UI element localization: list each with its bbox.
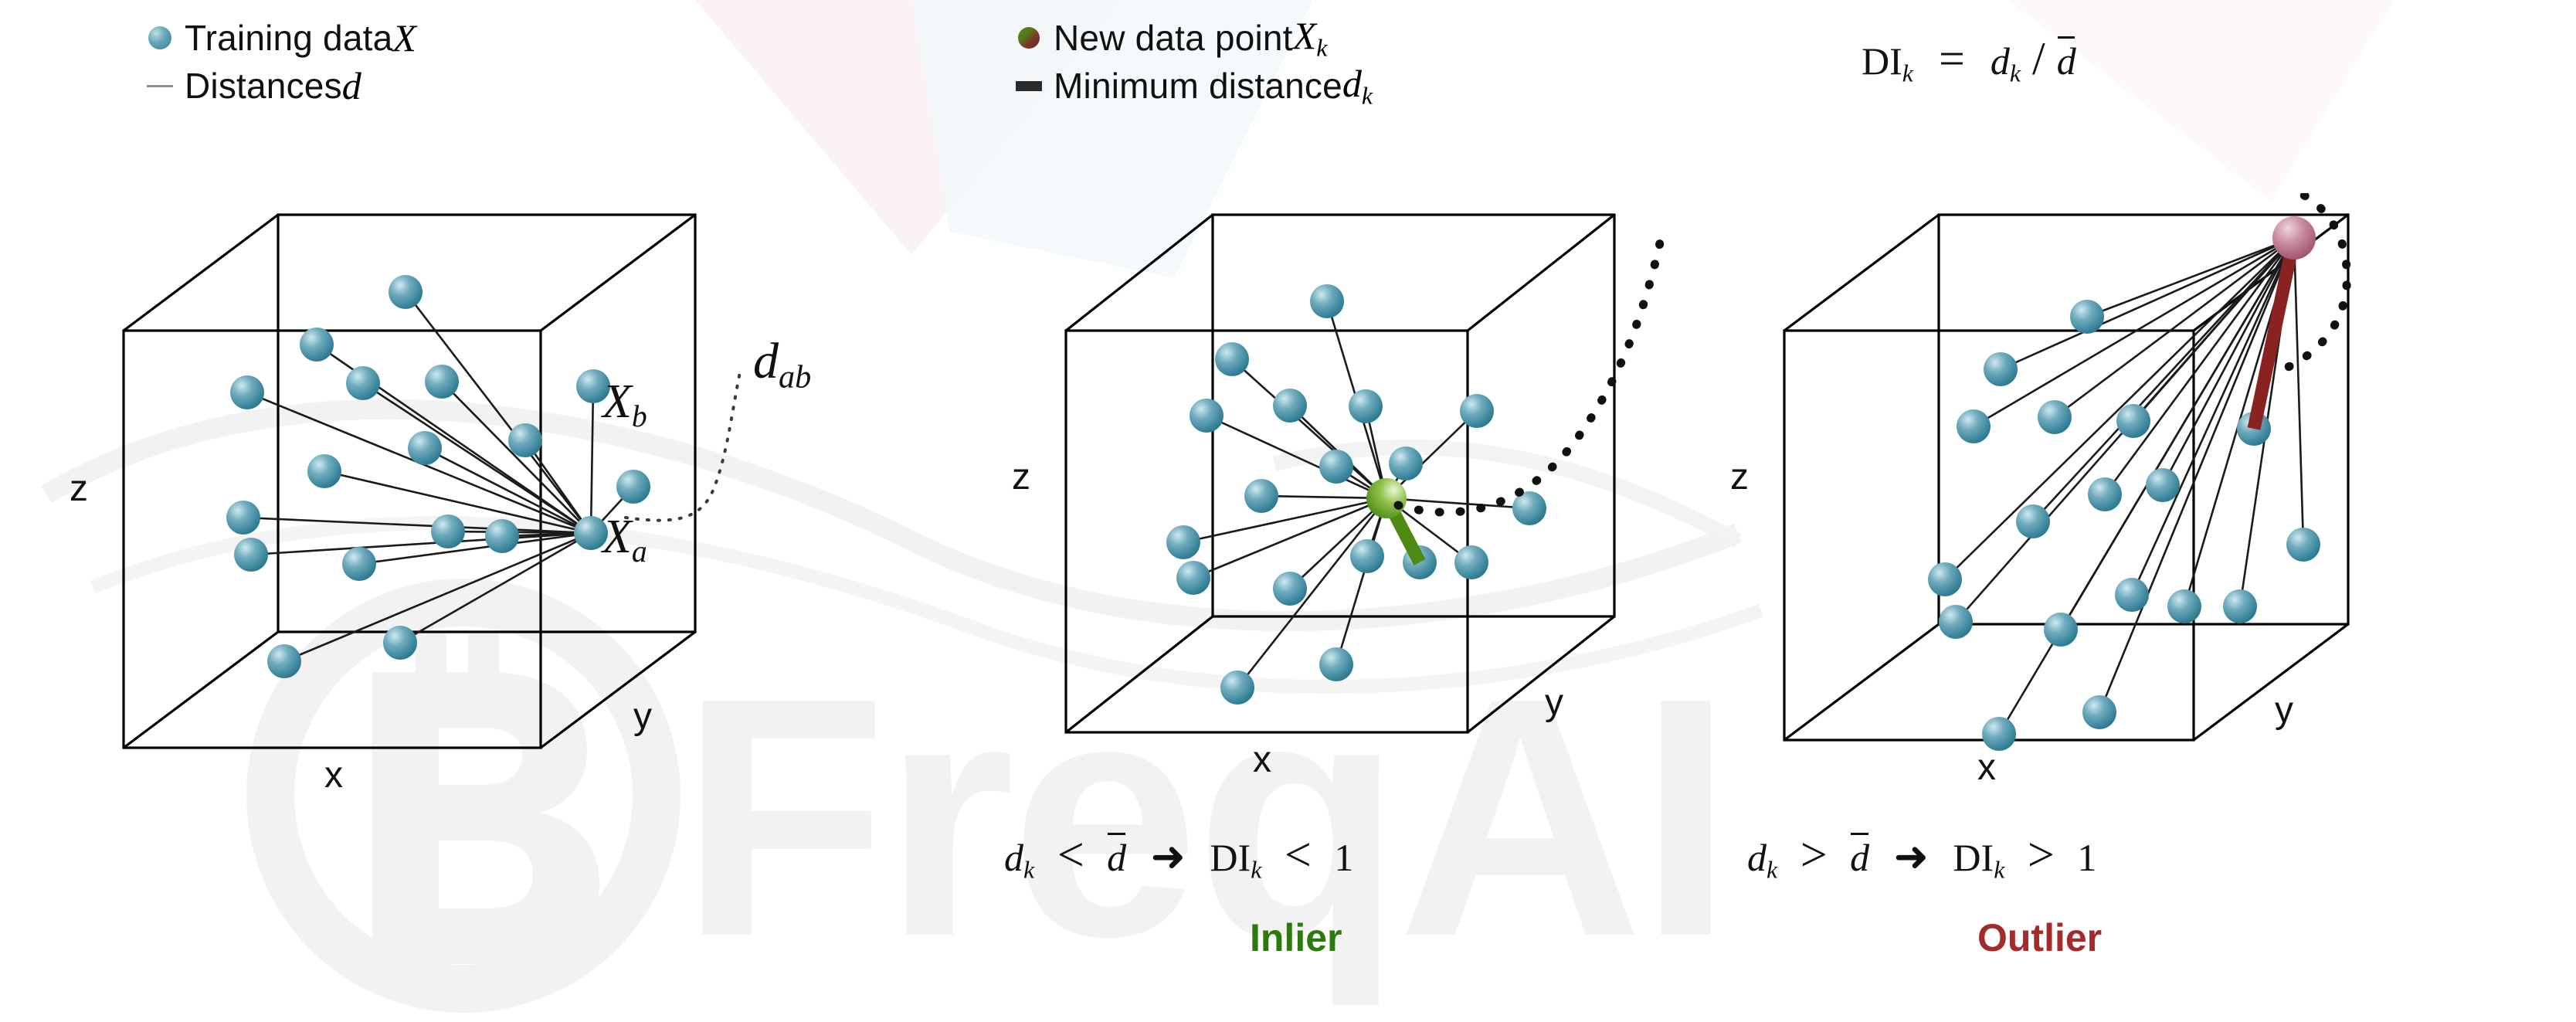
legend-right: New data point Xk Minimum distance dk (1004, 14, 1373, 110)
new-data-point-inlier (1366, 478, 1407, 518)
caption-outlier-dbar: d (1850, 835, 1869, 880)
callout-label-dab: dab (753, 332, 811, 396)
axis-label-x-inlier: x (1253, 738, 1271, 781)
panel-outlier: z x y (1753, 193, 2433, 834)
thin-dash-icon (135, 85, 185, 87)
legend-item-minimum-distance: Minimum distance dk (1004, 62, 1373, 110)
legend-symbol-distances: d (342, 63, 361, 108)
axis-label-z-training: z (70, 467, 88, 510)
legend-label-distances: Distances (185, 65, 342, 107)
caption-equation-outlier: dk > d ➜ DIk > 1 (1747, 828, 2096, 884)
caption-inlier-dbar: d (1107, 835, 1126, 880)
caption-outlier-op2: > (2028, 829, 2055, 881)
caption-equation-inlier: dk < d ➜ DIk < 1 (1004, 828, 1353, 884)
caption-inlier-arrow: ➜ (1151, 832, 1186, 881)
legend-symbol-new-data-point: Xk (1293, 13, 1328, 63)
point-label-Xa: Xa (602, 510, 647, 569)
caption-inlier-di: DIk (1210, 836, 1261, 879)
axis-label-z-outlier: z (1730, 456, 1749, 498)
new-data-point-icon (1004, 27, 1054, 49)
legend-item-distances: Distances d (135, 62, 416, 110)
axis-label-y-outlier: y (2275, 689, 2293, 732)
caption-outlier-arrow: ➜ (1894, 832, 1929, 881)
caption-inlier-value: 1 (1334, 836, 1353, 879)
di-formula-denominator: d (2057, 39, 2076, 83)
point-label-Xb: Xb (602, 375, 647, 434)
caption-word-outlier: Outlier (1977, 915, 2102, 960)
legend-symbol-minimum-distance: dk (1342, 61, 1373, 110)
axis-label-x-outlier: x (1977, 746, 1996, 789)
axis-label-y-training: y (633, 695, 652, 738)
caption-outlier-value: 1 (2077, 836, 2096, 879)
axis-label-z-inlier: z (1012, 456, 1030, 498)
legend-item-training-data: Training data X (135, 14, 416, 62)
legend-label-minimum-distance: Minimum distance (1054, 65, 1342, 107)
cube-training (93, 193, 911, 834)
panel-inlier: z x y (1035, 193, 1699, 834)
legend-label-new-data-point: New data point (1054, 17, 1293, 59)
panel-training: z x y Xb Xa dab (93, 193, 911, 834)
axis-label-x-training: x (324, 754, 343, 796)
di-formula-slash: / (2032, 33, 2045, 84)
caption-inlier-op2: < (1285, 829, 1312, 881)
di-formula-numerator: dk (1991, 39, 2021, 83)
cube-inlier (1035, 193, 1699, 834)
distance-lines-outlier (1945, 238, 2303, 734)
legend-item-new-data-point: New data point Xk (1004, 14, 1373, 62)
new-data-point-outlier (2272, 216, 2316, 260)
di-formula-lhs: DIk (1862, 39, 1913, 83)
legend-left: Training data X Distances d (135, 14, 416, 110)
di-formula: DIk = dk / d (1862, 32, 2076, 88)
di-formula-equals: = (1939, 33, 1965, 84)
point-Xb (616, 470, 650, 504)
legend-symbol-training-data: X (392, 15, 416, 60)
caption-inlier-op1: < (1057, 829, 1084, 881)
axis-label-y-inlier: y (1545, 681, 1563, 724)
thick-dash-icon (1004, 81, 1054, 91)
caption-outlier-dk: dk (1747, 836, 1777, 879)
legend-label-training-data: Training data (185, 17, 392, 59)
figure-canvas: FreqAI Training data X Distances d New d… (0, 0, 2576, 1022)
caption-outlier-di: DIk (1953, 836, 2004, 879)
caption-inlier-dk: dk (1004, 836, 1034, 879)
cube-outlier (1753, 193, 2433, 834)
caption-word-inlier: Inlier (1250, 915, 1342, 960)
caption-outlier-op1: > (1800, 829, 1828, 881)
training-points-inlier (1166, 284, 1546, 705)
training-point-icon (135, 26, 185, 49)
